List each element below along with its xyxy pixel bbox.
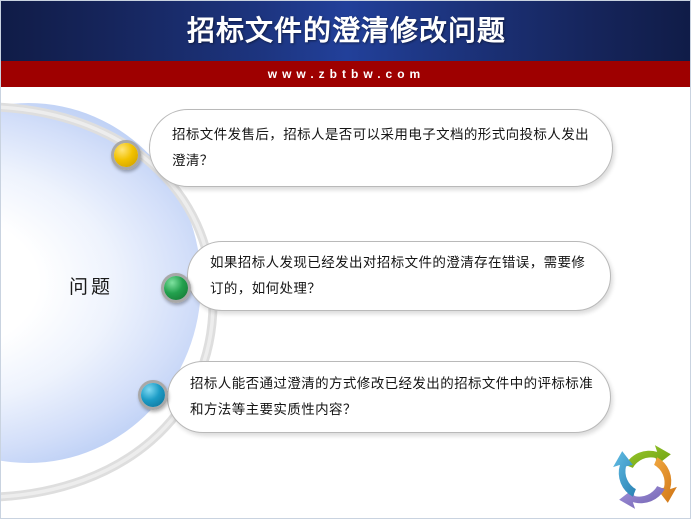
green-bullet-icon[interactable]	[161, 273, 191, 303]
question-bubble-3[interactable]: 招标人能否通过澄清的方式修改已经发出的招标文件中的评标标准和方法等主要实质性内容…	[167, 361, 611, 433]
website-url: www.zbtbw.com	[1, 61, 691, 87]
yellow-bullet-icon[interactable]	[111, 140, 141, 170]
question-bubble-2[interactable]: 如果招标人发现已经发出对招标文件的澄清存在错误，需要修订的，如何处理？	[187, 241, 611, 311]
question-text-2: 如果招标人发现已经发出对招标文件的澄清存在错误，需要修订的，如何处理？	[210, 250, 594, 302]
logo-center-hole	[636, 468, 654, 486]
blue-bullet-fill	[141, 383, 165, 407]
center-label: 问题	[21, 272, 161, 299]
page-title: 招标文件的澄清修改问题	[1, 9, 691, 49]
question-text-3: 招标人能否通过澄清的方式修改已经发出的招标文件中的评标标准和方法等主要实质性内容…	[190, 371, 594, 423]
slide-canvas: 招标文件的澄清修改问题 www.zbtbw.com 问题 招标文件发售后，招标人…	[0, 0, 691, 519]
yellow-bullet-fill	[114, 143, 138, 167]
question-text-1: 招标文件发售后，招标人是否可以采用电子文档的形式向投标人发出澄清？	[172, 122, 596, 174]
slide-body: 问题 招标文件发售后，招标人是否可以采用电子文档的形式向投标人发出澄清？ 如果招…	[1, 87, 691, 519]
green-bullet-fill	[164, 276, 188, 300]
recycle-arrows-logo	[607, 439, 683, 515]
question-bubble-1[interactable]: 招标文件发售后，招标人是否可以采用电子文档的形式向投标人发出澄清？	[149, 109, 613, 187]
blue-bullet-icon[interactable]	[138, 380, 168, 410]
